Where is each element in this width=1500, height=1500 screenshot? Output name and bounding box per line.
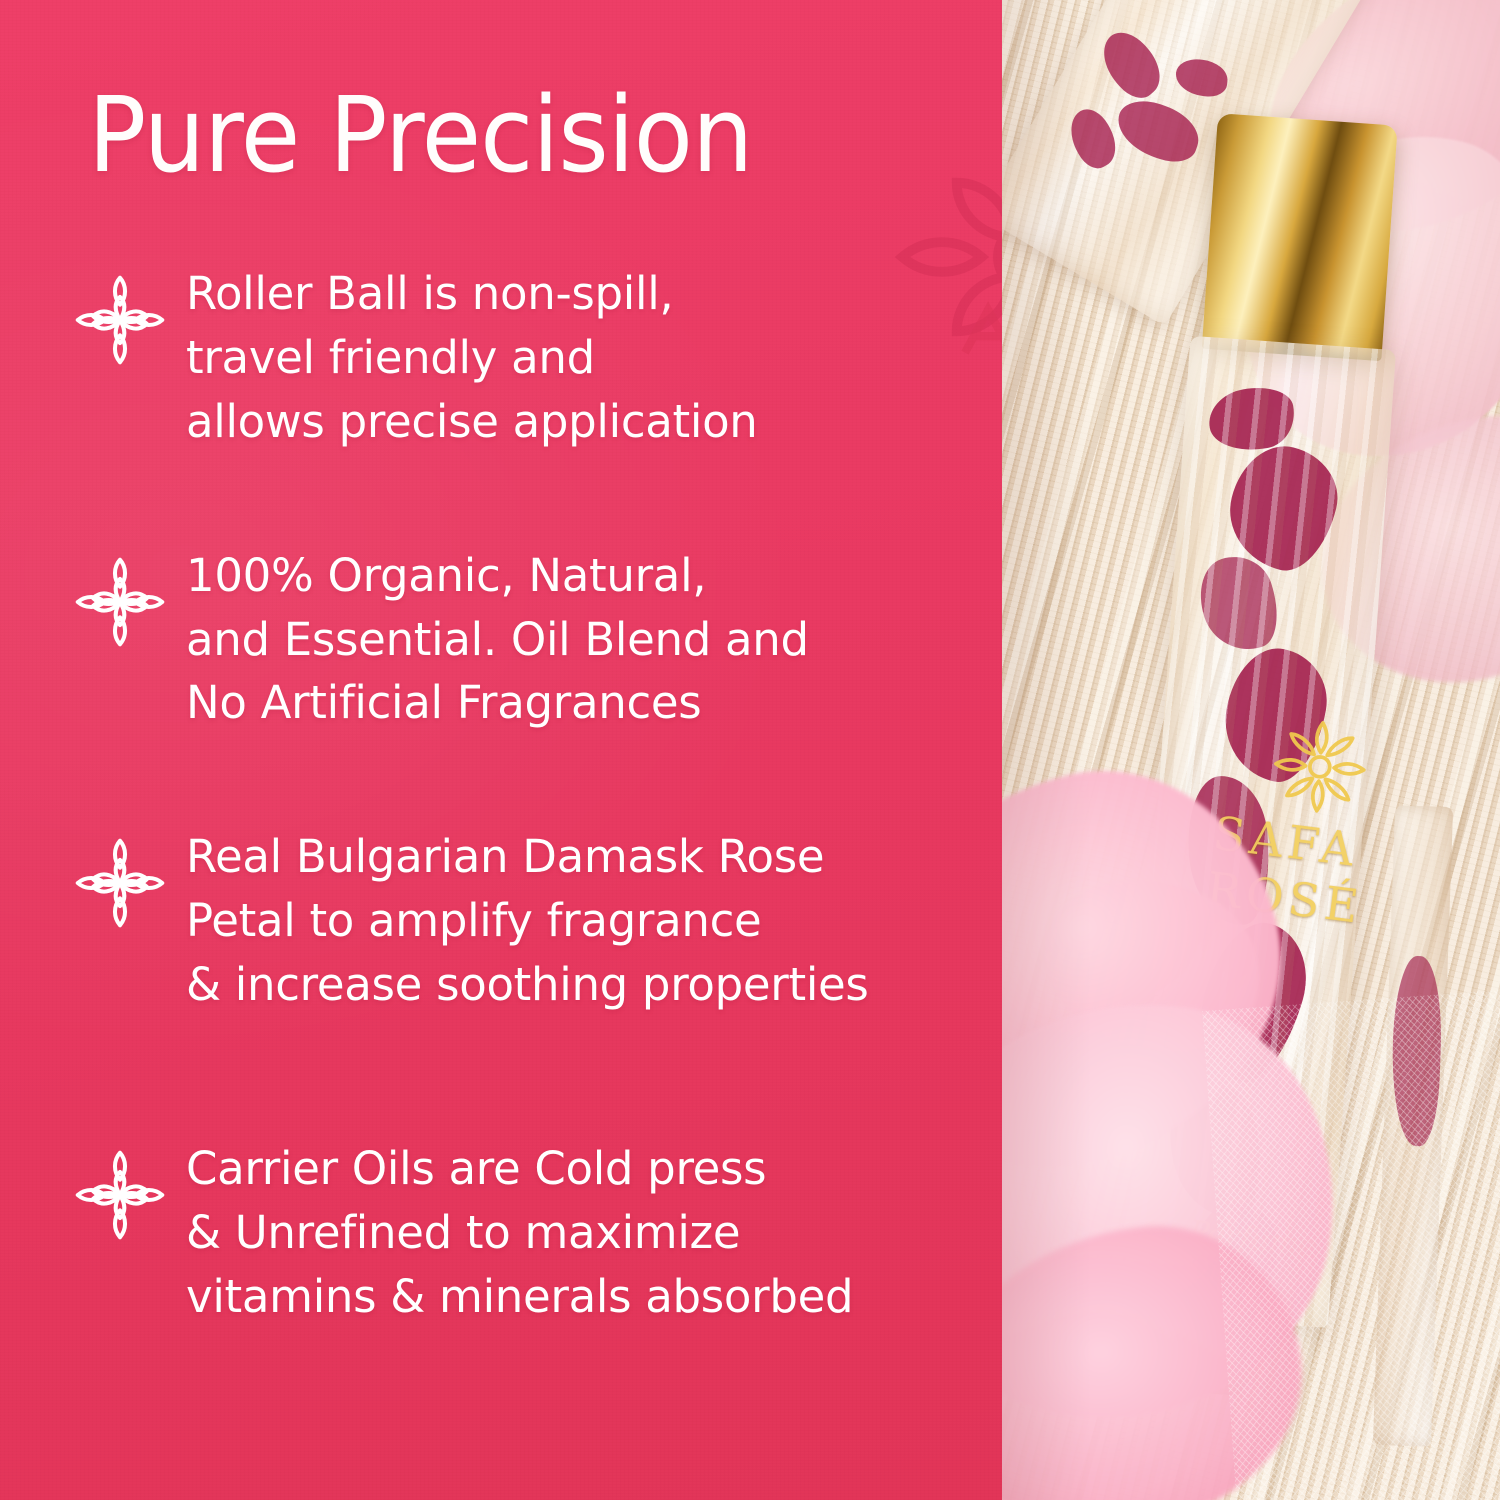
list-item-line: allows precise application <box>186 390 990 454</box>
immersed-rose-petal <box>1061 103 1125 175</box>
lotus-flower-logo-icon <box>1261 708 1378 825</box>
lotus-ornament-icon <box>72 1147 168 1243</box>
list-item-line: Carrier Oils are Cold press <box>186 1137 990 1201</box>
list-item-text: Roller Ball is non-spill, travel friendl… <box>186 262 990 454</box>
list-item-line: 100% Organic, Natural, <box>186 544 990 608</box>
list-item-line: Real Bulgarian Damask Rose <box>186 825 990 889</box>
gold-bottle-cap <box>1202 113 1398 361</box>
immersed-rose-petal <box>1174 57 1229 98</box>
list-item-line: travel friendly and <box>186 326 990 390</box>
list-item: 100% Organic, Natural, and Essential. Oi… <box>60 544 990 736</box>
list-item: Carrier Oils are Cold press & Unrefined … <box>60 1137 990 1329</box>
list-item: Real Bulgarian Damask Rose Petal to ampl… <box>60 825 990 1017</box>
list-item-text: 100% Organic, Natural, and Essential. Oi… <box>186 544 990 736</box>
list-item-text: Real Bulgarian Damask Rose Petal to ampl… <box>186 825 990 1017</box>
list-item-line: and Essential. Oil Blend and <box>186 608 990 672</box>
immersed-rose-petal <box>1110 93 1206 170</box>
lotus-ornament-icon <box>72 554 168 650</box>
feature-list: Roller Ball is non-spill, travel friendl… <box>60 262 990 1329</box>
lotus-ornament-icon <box>72 272 168 368</box>
list-item-line: No Artificial Fragrances <box>186 671 990 735</box>
product-feature-image: Pure Precision <box>0 0 1500 1500</box>
list-item-line: Petal to amplify fragrance <box>186 889 990 953</box>
immersed-rose-petal <box>1091 23 1172 106</box>
list-item: Roller Ball is non-spill, travel friendl… <box>60 262 990 454</box>
list-item-line: & increase soothing properties <box>186 953 990 1017</box>
list-item-line: & Unrefined to maximize <box>186 1201 990 1265</box>
lotus-ornament-icon <box>72 835 168 931</box>
page-title: Pure Precision <box>88 82 752 188</box>
list-item-line: vitamins & minerals absorbed <box>186 1265 990 1329</box>
list-item-text: Carrier Oils are Cold press & Unrefined … <box>186 1137 990 1329</box>
product-photo: SAFA ROSÉ Perfume Oil Roll On <box>1002 0 1500 1500</box>
gauze-mesh-overlay <box>1202 990 1500 1500</box>
list-item-line: Roller Ball is non-spill, <box>186 262 990 326</box>
